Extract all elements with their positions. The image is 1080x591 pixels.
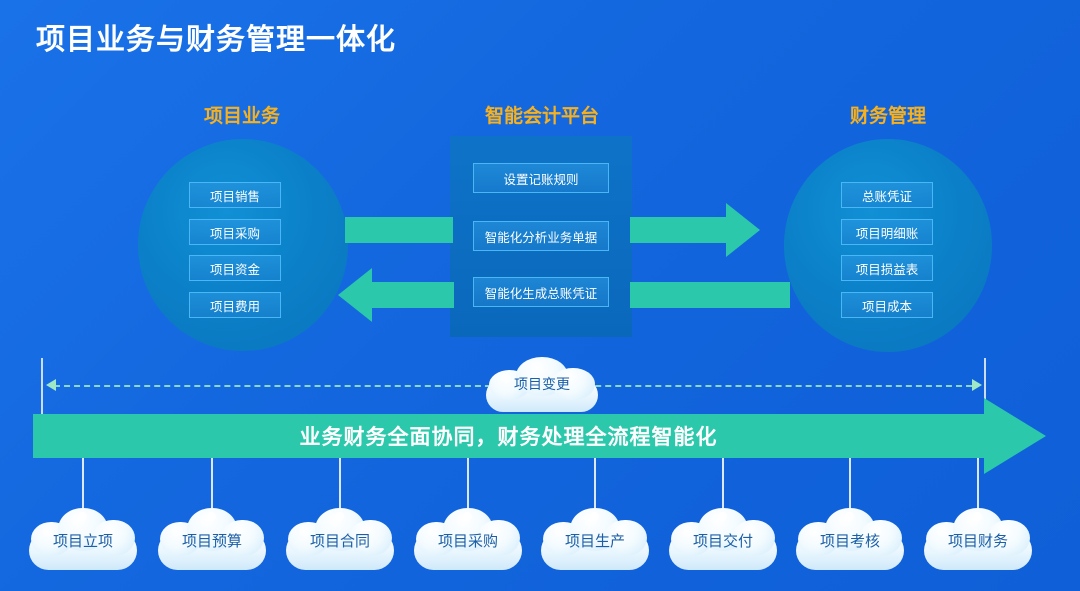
cloud-connector-dot (718, 512, 727, 521)
flow-arrow-finance-to-platform-bar (630, 282, 790, 308)
project-change-cloud-label: 项目变更 (484, 355, 600, 413)
timeline-arrow-right-icon (972, 379, 982, 391)
item-chip-project-expense[interactable]: 项目费用 (189, 292, 281, 318)
flow-arrow-platform-to-finance-bar (630, 217, 728, 243)
timeline-arrow-left-icon (46, 379, 56, 391)
cloud-connector-dot (335, 512, 344, 521)
cloud-connector-dot (845, 512, 854, 521)
item-chip-project-funds[interactable]: 项目资金 (189, 255, 281, 281)
timeline-left-tick (41, 358, 43, 414)
diagram-canvas: 项目业务与财务管理一体化 项目业务 智能会计平台 财务管理 项目销售 项目采购 … (0, 0, 1080, 591)
flow-arrow-platform-to-business-bar (372, 282, 454, 308)
section-heading-smart-accounting-platform: 智能会计平台 (452, 101, 632, 128)
cloud-connector-dot (463, 512, 472, 521)
cloud-connector-dot (590, 512, 599, 521)
cloud-connector-dot (78, 512, 87, 521)
item-chip-project-profit-loss-statement[interactable]: 项目损益表 (841, 255, 933, 281)
flow-arrow-left-head-icon (338, 268, 372, 322)
item-chip-smart-analyze-business-documents[interactable]: 智能化分析业务单据 (473, 221, 609, 251)
item-chip-smart-generate-ledger-vouchers[interactable]: 智能化生成总账凭证 (473, 277, 609, 307)
page-title: 项目业务与财务管理一体化 (36, 16, 396, 58)
item-chip-set-bookkeeping-rules[interactable]: 设置记账规则 (473, 163, 609, 193)
project-change-cloud: 项目变更 (484, 355, 600, 413)
item-chip-project-cost[interactable]: 项目成本 (841, 292, 933, 318)
financial-management-circle (784, 139, 992, 352)
item-chip-project-procurement[interactable]: 项目采购 (189, 219, 281, 245)
collaboration-banner-label: 业务财务全面协同，财务处理全流程智能化 (33, 414, 984, 458)
flow-arrow-business-to-platform-bar (345, 217, 453, 243)
cloud-connector-dot (207, 512, 216, 521)
flow-arrow-right-head-icon (726, 203, 760, 257)
item-chip-general-ledger-voucher[interactable]: 总账凭证 (841, 182, 933, 208)
collaboration-banner-arrow-icon (984, 398, 1046, 474)
section-heading-project-business: 项目业务 (152, 101, 332, 128)
section-heading-financial-management: 财务管理 (798, 101, 978, 128)
project-business-circle (138, 139, 348, 351)
cloud-connector-dot (973, 512, 982, 521)
item-chip-project-sales[interactable]: 项目销售 (189, 182, 281, 208)
item-chip-project-subsidiary-ledger[interactable]: 项目明细账 (841, 219, 933, 245)
